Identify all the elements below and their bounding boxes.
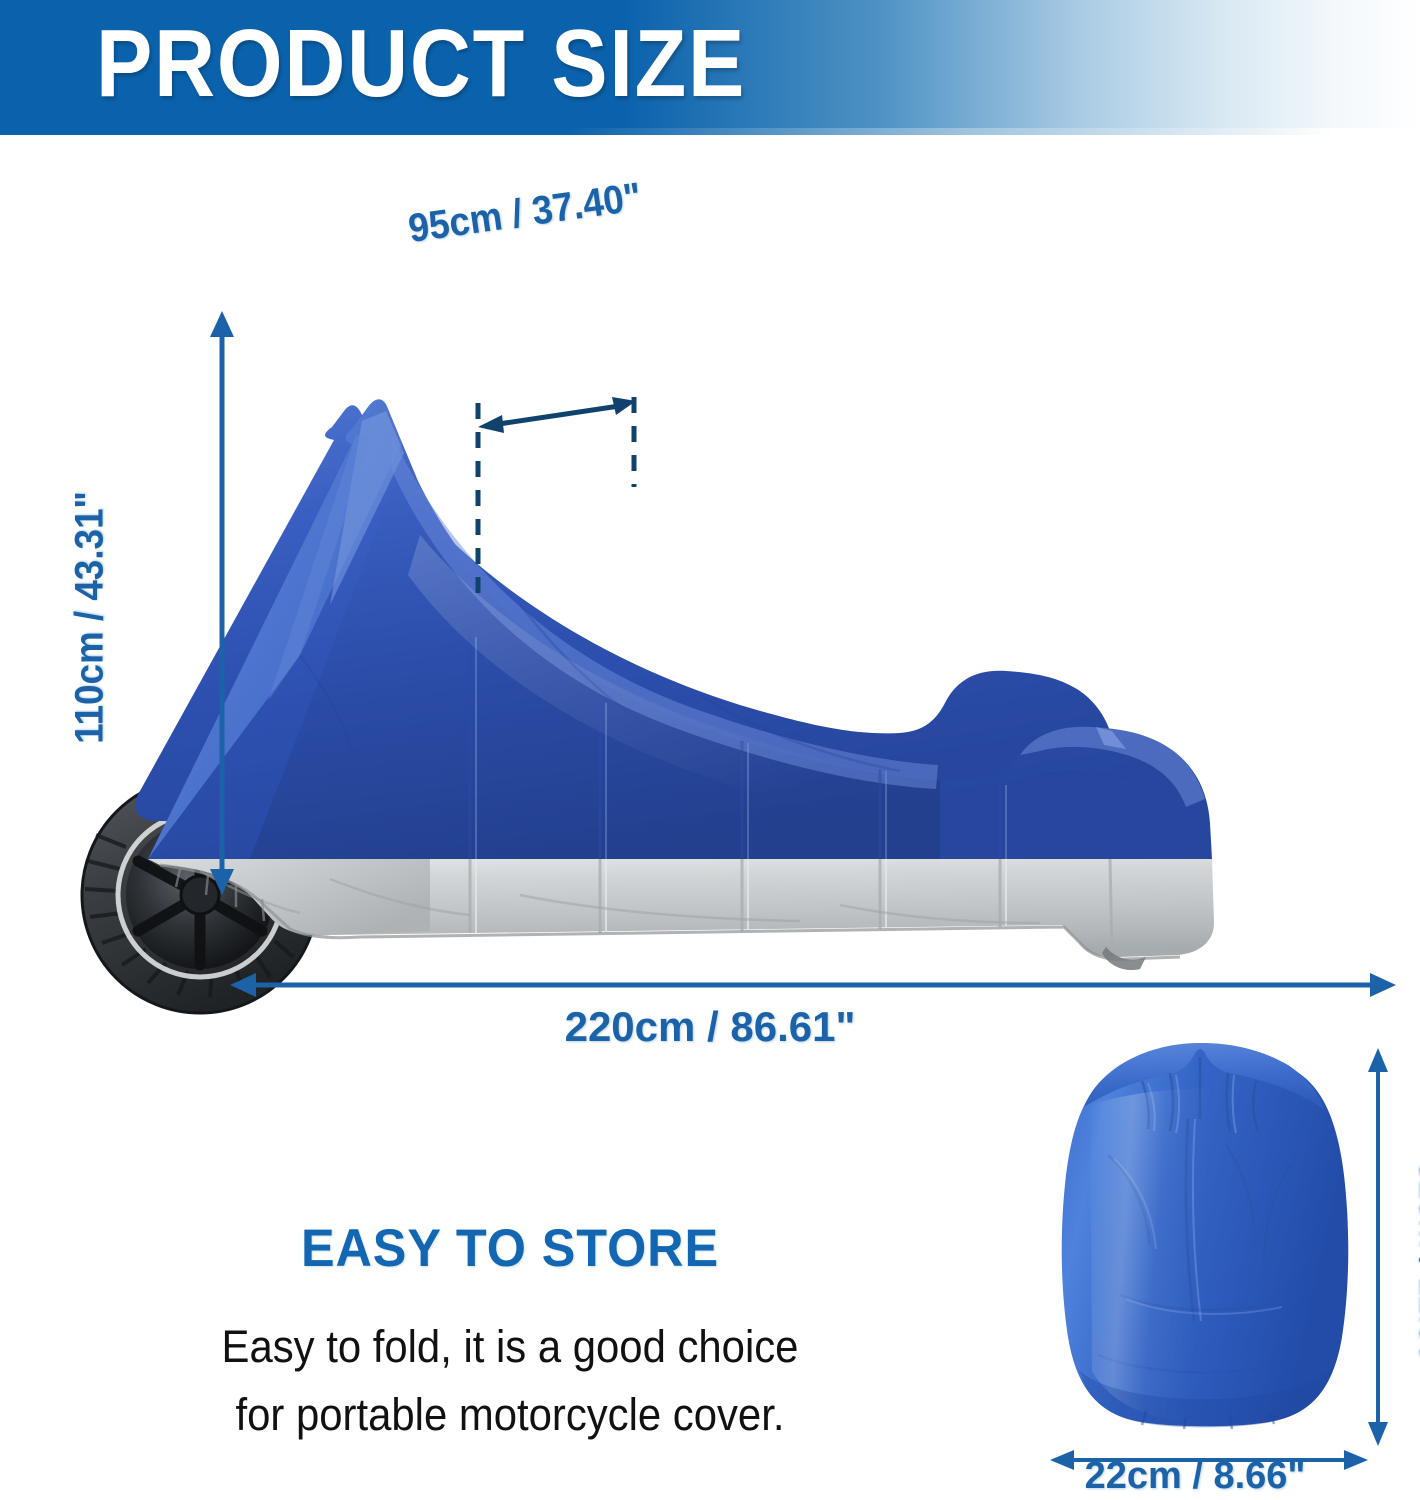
cover-illustration-svg xyxy=(0,135,1420,1055)
motorcycle-cover xyxy=(135,399,1214,970)
bag-dimension-svg xyxy=(1000,1030,1420,1500)
page-title: PRODUCT SIZE xyxy=(96,8,746,120)
dimension-label-bag-width: 22cm / 8.66" xyxy=(1000,1455,1390,1498)
dimension-label-bag-height: 32cm / 12.60" xyxy=(1411,1085,1420,1453)
dimension-length xyxy=(230,973,1396,997)
header-underline-divider xyxy=(0,128,1420,135)
easy-to-store-line-1: Easy to fold, it is a good choice xyxy=(92,1313,929,1381)
easy-to-store-heading: EASY TO STORE xyxy=(83,1218,938,1279)
easy-to-store-line-2: for portable motorcycle cover. xyxy=(92,1381,929,1449)
dimension-bag-height xyxy=(1368,1048,1388,1446)
easy-to-store-block: EASY TO STORE Easy to fold, it is a good… xyxy=(60,1218,960,1449)
dimension-top-width xyxy=(478,397,636,605)
header-banner: PRODUCT SIZE xyxy=(0,0,1420,128)
dimension-label-height: 110cm / 43.31" xyxy=(68,424,113,810)
easy-to-store-body: Easy to fold, it is a good choice for po… xyxy=(60,1313,960,1449)
product-size-diagram: 95cm / 37.40" 110cm / 43.31" 220cm / 86.… xyxy=(0,135,1420,1055)
